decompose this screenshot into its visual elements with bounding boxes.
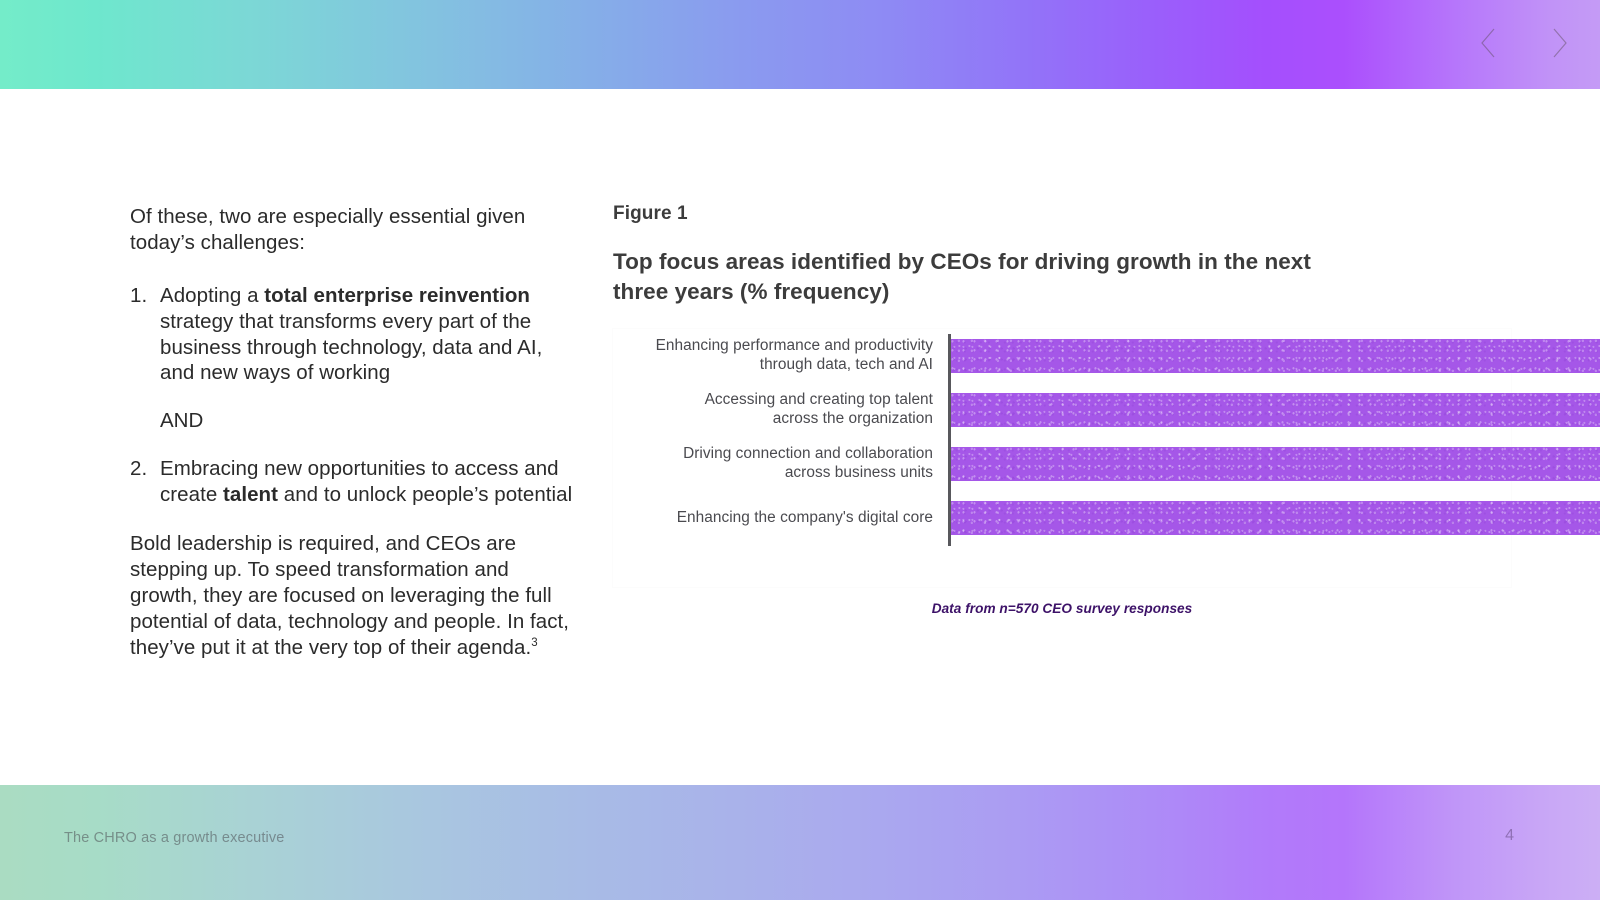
bar-chart: Enhancing performance and productivity t… <box>613 329 1511 587</box>
chart-rows: Enhancing performance and productivity t… <box>613 329 1511 587</box>
chart-category-label: Enhancing performance and productivity t… <box>603 337 933 374</box>
numbered-list: 1. Adopting a total enterprise reinventi… <box>130 283 582 508</box>
list-item-marker: 2. <box>130 456 160 508</box>
footer-document-title: The CHRO as a growth executive <box>64 830 284 846</box>
previous-slide-button[interactable] <box>1474 23 1502 63</box>
chart-category-label: Accessing and creating top talent across… <box>603 391 933 428</box>
list-connector: AND <box>160 408 582 434</box>
list-item-marker: 1. <box>130 283 160 386</box>
list-item-text-after: strategy that transforms every part of t… <box>160 310 542 385</box>
list-item-body: Embracing new opportunities to access an… <box>160 456 582 508</box>
list-item-bold: total enterprise reinvention <box>264 284 530 307</box>
list-item-text-after: and to unlock people’s potential <box>278 483 572 506</box>
chart-bar-row: Driving connection and collaboration acr… <box>613 447 1511 481</box>
body-text-column: Of these, two are especially essential g… <box>130 204 582 662</box>
chart-category-label: Driving connection and collaboration acr… <box>603 445 933 482</box>
lead-paragraph: Of these, two are especially essential g… <box>130 204 582 255</box>
figure-kicker: Figure 1 <box>613 203 1513 225</box>
list-item: 1. Adopting a total enterprise reinventi… <box>130 283 582 386</box>
slide-navigation <box>1474 22 1574 64</box>
chart-bar <box>951 501 1600 535</box>
chart-bar-row: Enhancing the company's digital core34% <box>613 501 1511 535</box>
chart-bar <box>951 447 1600 481</box>
page-number: 4 <box>1505 827 1514 845</box>
list-item-text-before: Adopting a <box>160 284 264 307</box>
chart-bar-row: Enhancing performance and productivity t… <box>613 339 1511 373</box>
chart-category-label: Enhancing the company's digital core <box>603 509 933 528</box>
chart-source-note: Data from n=570 CEO survey responses <box>613 601 1511 616</box>
list-item-body: Adopting a total enterprise reinvention … <box>160 283 582 386</box>
slide-page: Of these, two are especially essential g… <box>0 0 1600 900</box>
list-item: 2. Embracing new opportunities to access… <box>130 456 582 508</box>
footnote-marker: 3 <box>531 638 537 650</box>
chevron-right-icon <box>1552 28 1568 58</box>
next-slide-button[interactable] <box>1546 23 1574 63</box>
chevron-left-icon <box>1480 28 1496 58</box>
list-item-bold: talent <box>223 483 278 506</box>
chart-bar <box>951 393 1600 427</box>
figure-block: Figure 1 Top focus areas identified by C… <box>613 203 1513 616</box>
closing-text: Bold leadership is required, and CEOs ar… <box>130 532 569 660</box>
bottom-gradient-band: The CHRO as a growth executive 4 <box>0 785 1600 900</box>
top-gradient-band <box>0 0 1600 89</box>
chart-bar-row: Accessing and creating top talent across… <box>613 393 1511 427</box>
chart-bar <box>951 339 1600 373</box>
closing-paragraph: Bold leadership is required, and CEOs ar… <box>130 531 582 662</box>
figure-title: Top focus areas identified by CEOs for d… <box>613 247 1353 306</box>
